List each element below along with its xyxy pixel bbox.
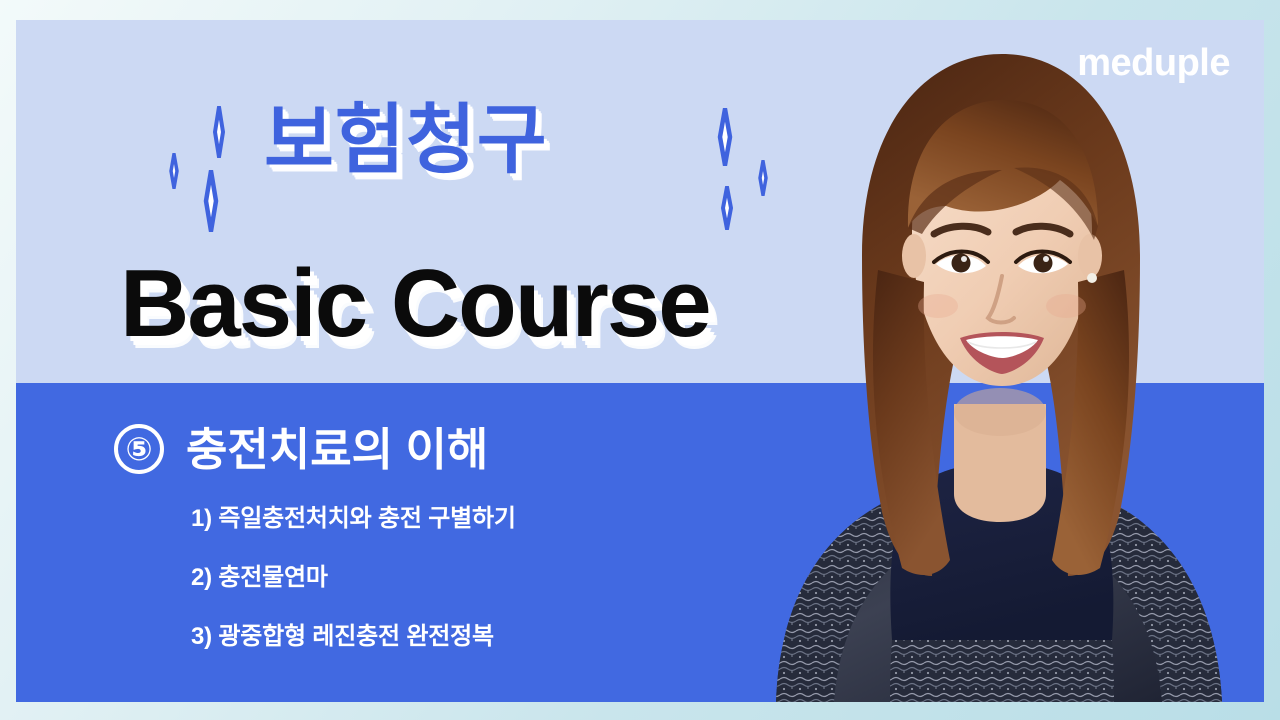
sparkle-icon — [713, 186, 741, 230]
brand-logo: meduple — [1077, 44, 1230, 82]
lesson-topic-list: 1) 즉일충전처치와 충전 구별하기 2) 충전물연마 3) 광중합형 레진충전… — [191, 507, 516, 649]
lesson-title: 충전치료의 이해 — [186, 427, 488, 472]
sparkle-icon — [202, 106, 236, 158]
lesson-heading: ⑤ 충전치료의 이해 — [114, 424, 488, 474]
sparkle-icon — [162, 153, 186, 189]
english-course-title: Basic Course — [120, 256, 710, 352]
lesson-number-badge: ⑤ — [114, 424, 164, 474]
korean-course-title: 보험청구 — [264, 103, 548, 179]
list-item: 3) 광중합형 레진충전 완전정복 — [191, 625, 516, 649]
sparkle-icon — [706, 108, 744, 166]
list-item: 1) 즉일충전처치와 충전 구별하기 — [191, 507, 516, 531]
thumbnail-canvas: 보험청구 Basic Course meduple ⑤ 충전치료의 이해 1) … — [0, 0, 1280, 720]
list-item: 2) 충전물연마 — [191, 566, 516, 590]
thumbnail-card: 보험청구 Basic Course meduple ⑤ 충전치료의 이해 1) … — [16, 20, 1264, 702]
sparkle-icon — [191, 170, 231, 232]
sparkle-icon — [751, 160, 775, 196]
